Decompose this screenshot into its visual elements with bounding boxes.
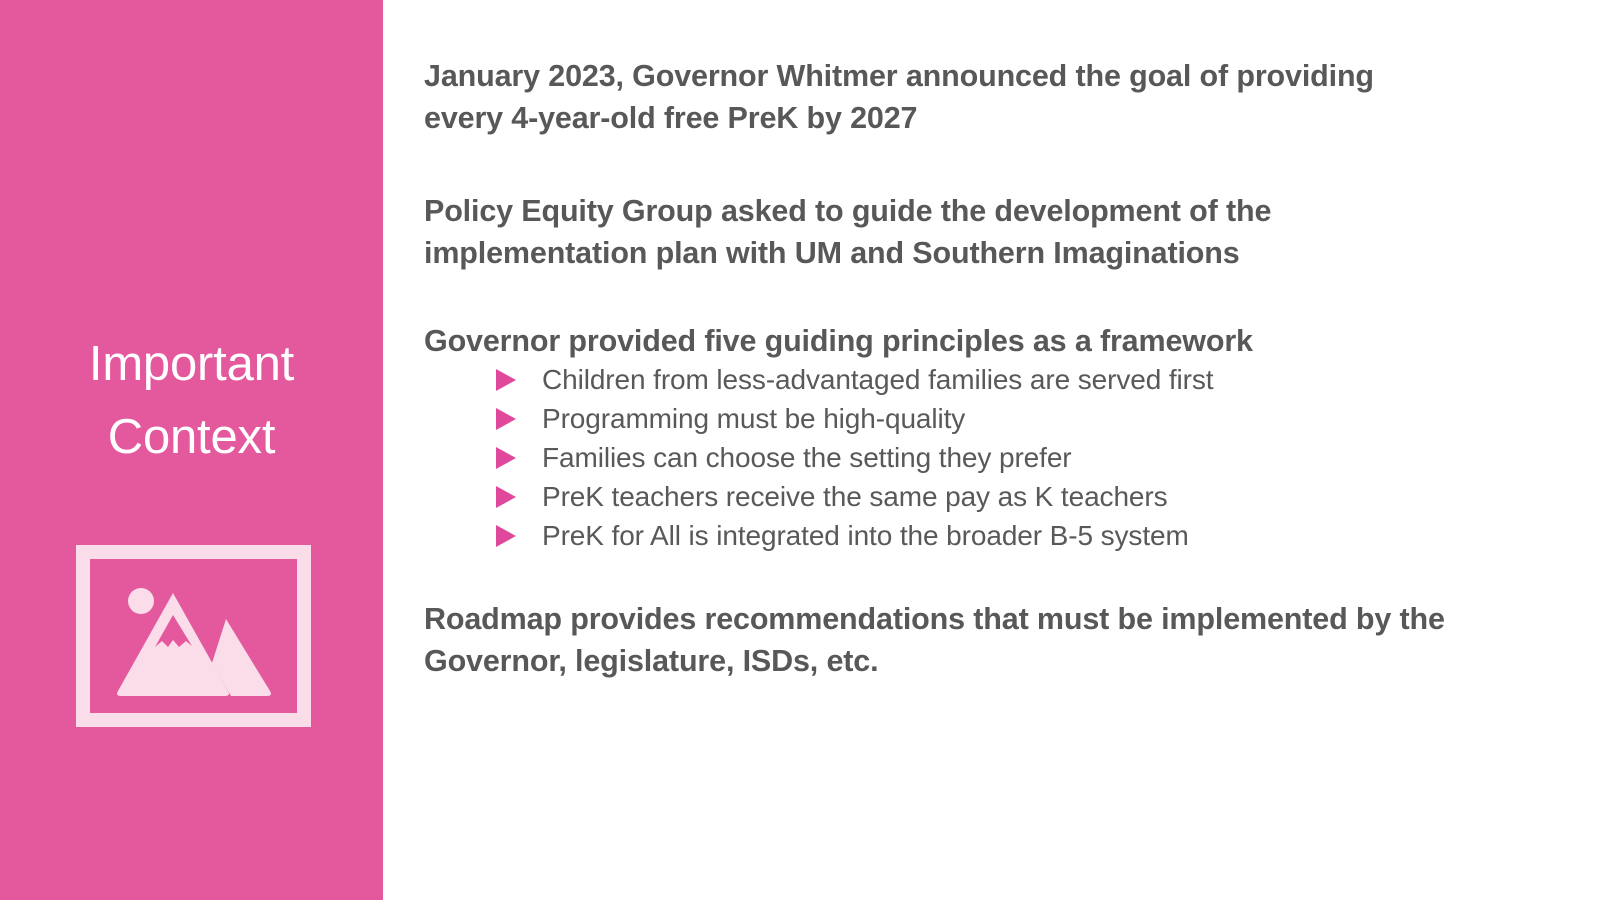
list-item: PreK teachers receive the same pay as K … (424, 477, 1324, 516)
list-item: Children from less-advantaged families a… (424, 360, 1324, 399)
body-paragraph-3: Governor provided five guiding principle… (424, 320, 1324, 362)
list-item: PreK for All is integrated into the broa… (424, 516, 1324, 555)
body-paragraph-1: January 2023, Governor Whitmer announced… (424, 55, 1429, 139)
slide-important-context: Important Context January 2023, Governor… (0, 0, 1600, 900)
triangle-bullet-icon (496, 486, 516, 508)
body-paragraph-4: Roadmap provides recommendations that mu… (424, 598, 1504, 682)
slide-sidebar: Important Context (0, 0, 383, 900)
triangle-bullet-icon (496, 369, 516, 391)
list-item: Families can choose the setting they pre… (424, 438, 1324, 477)
list-item-label: PreK for All is integrated into the broa… (542, 520, 1189, 551)
slide-body: January 2023, Governor Whitmer announced… (424, 0, 1524, 900)
triangle-bullet-icon (496, 408, 516, 430)
list-item: Programming must be high-quality (424, 399, 1324, 438)
picture-placeholder-icon (76, 545, 311, 727)
page-title: Important Context (0, 328, 383, 473)
list-item-label: Children from less-advantaged families a… (542, 364, 1213, 395)
triangle-bullet-icon (496, 447, 516, 469)
guiding-principles-list: Children from less-advantaged families a… (424, 360, 1324, 555)
triangle-bullet-icon (496, 525, 516, 547)
body-paragraph-2: Policy Equity Group asked to guide the d… (424, 190, 1324, 274)
list-item-label: Families can choose the setting they pre… (542, 442, 1072, 473)
list-item-label: Programming must be high-quality (542, 403, 965, 434)
list-item-label: PreK teachers receive the same pay as K … (542, 481, 1168, 512)
